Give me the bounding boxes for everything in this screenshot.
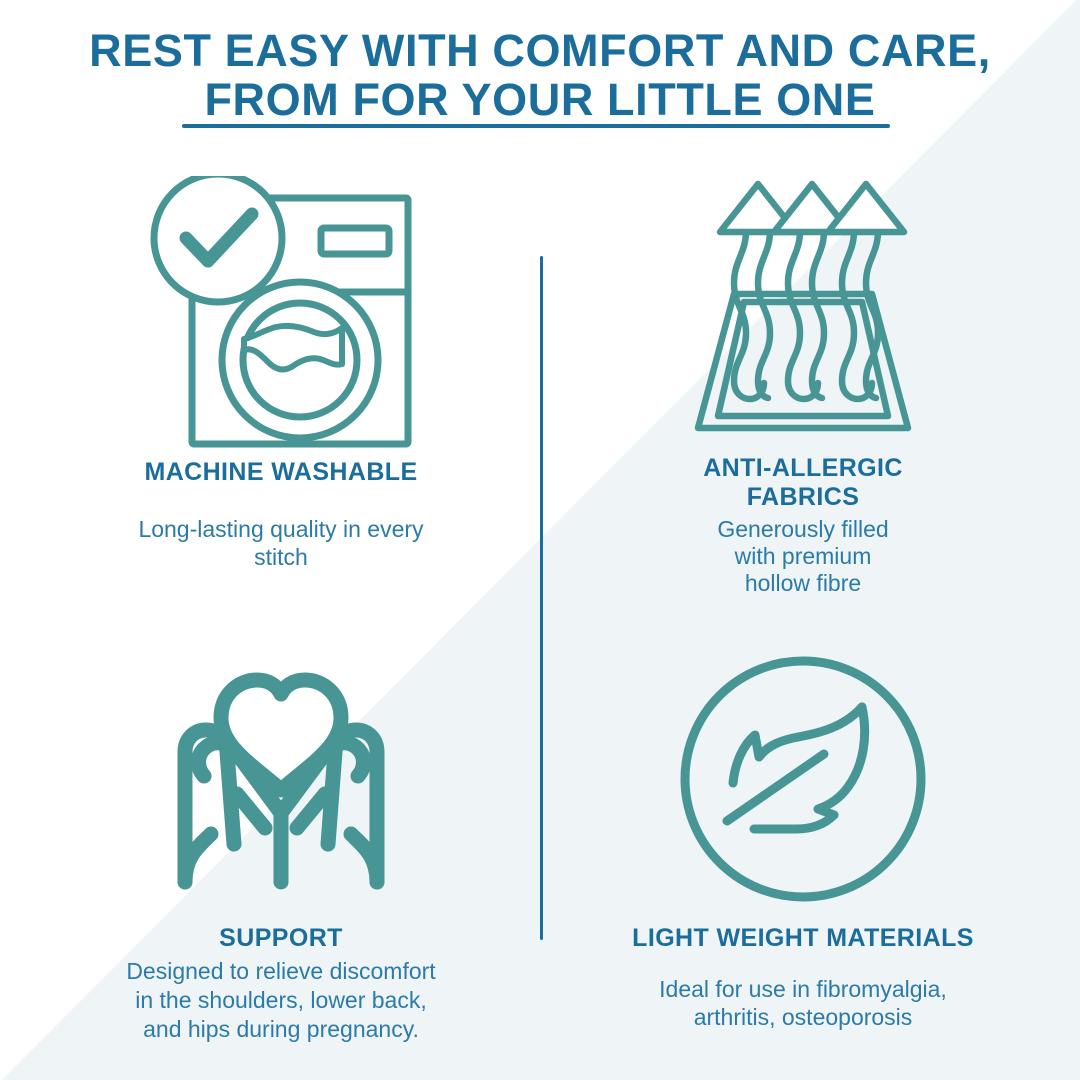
- feature-desc-light-weight: Ideal for use in fibromyalgia, arthritis…: [568, 975, 1038, 1031]
- feature-desc-line: arthritis, osteoporosis: [694, 1004, 913, 1030]
- icon-container: [46, 638, 516, 910]
- feature-desc-line: Designed to relieve discomfort: [126, 958, 435, 984]
- content-layer: REST EASY WITH COMFORT AND CARE, FROM FO…: [0, 0, 1080, 1080]
- infographic-page: REST EASY WITH COMFORT AND CARE, FROM FO…: [0, 0, 1080, 1080]
- feature-title-anti-allergic: ANTI-ALLERGIC FABRICS: [568, 454, 1038, 512]
- feature-support: SUPPORT Designed to relieve discomfort i…: [46, 638, 516, 1044]
- feature-title-light-weight: LIGHT WEIGHT MATERIALS: [568, 924, 1038, 953]
- breathable-fabric-icon: [672, 176, 934, 448]
- feature-title-line: ANTI-ALLERGIC: [703, 454, 903, 482]
- icon-container: [46, 176, 516, 448]
- column-divider: [540, 256, 543, 940]
- feather-in-circle-icon: [672, 648, 934, 910]
- feature-desc-line: in the shoulders, lower back,: [135, 987, 427, 1013]
- feature-desc-line: hollow fibre: [745, 570, 861, 596]
- icon-container: [568, 638, 1038, 910]
- page-title-line-2: FROM FOR YOUR LITTLE ONE: [0, 75, 1080, 124]
- title-underline-rule: [182, 124, 890, 128]
- feature-machine-washable: MACHINE WASHABLE Long-lasting quality in…: [46, 176, 516, 571]
- feature-desc-line: and hips during pregnancy.: [143, 1016, 419, 1042]
- feature-desc-line: Long-lasting quality in every: [138, 516, 423, 542]
- feature-desc-line: with premium: [735, 543, 872, 569]
- feature-title-line: FABRICS: [747, 483, 860, 511]
- page-title-line-1: REST EASY WITH COMFORT AND CARE,: [0, 26, 1080, 75]
- feature-desc-machine-washable: Long-lasting quality in every stitch: [46, 515, 516, 571]
- feature-desc-support: Designed to relieve discomfort in the sh…: [46, 957, 516, 1044]
- feature-desc-anti-allergic: Generously filled with premium hollow fi…: [568, 516, 1038, 597]
- feature-anti-allergic-fabrics: ANTI-ALLERGIC FABRICS Generously filled …: [568, 176, 1038, 597]
- feature-desc-line: Ideal for use in fibromyalgia,: [659, 976, 947, 1002]
- icon-container: [568, 176, 1038, 448]
- washing-machine-check-icon: [145, 176, 417, 448]
- feature-desc-line: stitch: [254, 544, 308, 570]
- page-title: REST EASY WITH COMFORT AND CARE, FROM FO…: [0, 26, 1080, 124]
- hands-holding-heart-icon: [147, 642, 415, 910]
- feature-desc-line: Generously filled: [717, 516, 888, 542]
- feature-title-support: SUPPORT: [46, 924, 516, 953]
- feature-title-machine-washable: MACHINE WASHABLE: [46, 458, 516, 487]
- feature-light-weight-materials: LIGHT WEIGHT MATERIALS Ideal for use in …: [568, 638, 1038, 1031]
